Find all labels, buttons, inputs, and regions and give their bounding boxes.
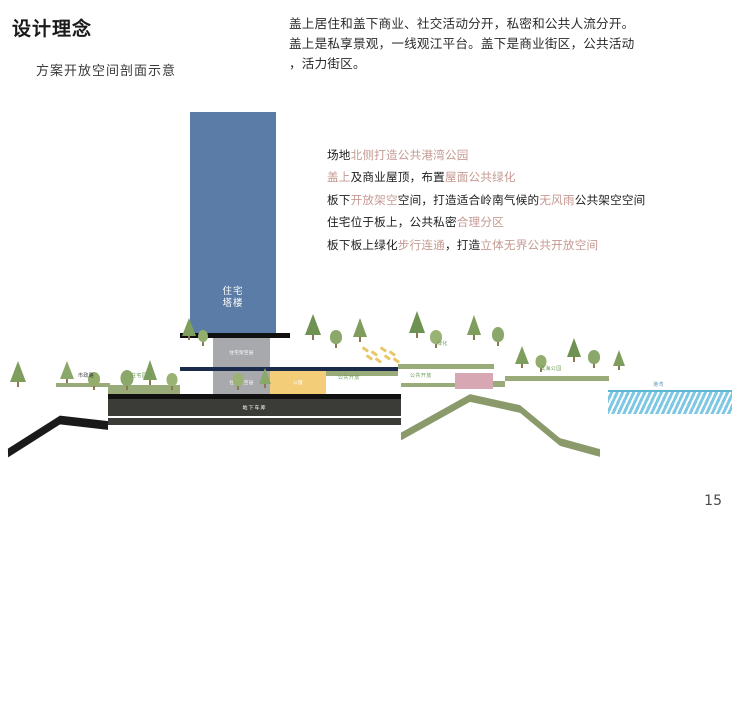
label-harbor: 港湾 xyxy=(653,381,664,388)
sun-ray-icon xyxy=(371,350,378,356)
intro-line-2: 盖上是私享景观，一线观江平台。盖下是商业街区，公共活动 xyxy=(289,34,731,54)
tree-icon xyxy=(258,368,271,388)
tree-icon xyxy=(232,373,243,390)
tree-icon xyxy=(515,346,529,368)
tree-icon xyxy=(352,318,367,342)
sun-ray-icon xyxy=(362,346,369,352)
tree-icon xyxy=(305,314,321,340)
basement-garage-band: 地下车库 xyxy=(108,399,401,416)
basement-garage-label: 地下车库 xyxy=(108,404,401,411)
tree-icon xyxy=(60,361,74,383)
intro-line-3: ，活力街区。 xyxy=(289,54,731,74)
tree-icon xyxy=(612,350,625,370)
plaza-panel-left xyxy=(326,376,398,394)
label-greenery: 绿化 xyxy=(437,340,448,347)
tree-icon xyxy=(166,373,177,390)
tree-icon xyxy=(182,318,196,340)
basement-garage-band-lower xyxy=(108,418,401,425)
tree-icon xyxy=(198,330,208,346)
sun-ray-icon xyxy=(366,354,373,360)
tree-icon xyxy=(10,361,26,387)
podium-block-upper: 住宅架空层 xyxy=(213,338,270,367)
pavilion-block xyxy=(455,373,493,389)
sun-ray-icon xyxy=(389,350,396,356)
label-municipal-road: 市政路 xyxy=(78,372,94,379)
page-subtitle: 方案开放空间剖面示意 xyxy=(36,60,176,79)
label-public-open-left: 公共开放 xyxy=(338,374,360,381)
tree-icon xyxy=(566,338,581,362)
tree-icon xyxy=(330,330,342,348)
sun-ray-icon xyxy=(384,354,391,360)
sun-ray-icon xyxy=(393,357,400,363)
sun-ray-icon xyxy=(375,357,382,363)
residential-tower-label: 住宅 塔楼 xyxy=(190,286,276,310)
tree-icon xyxy=(408,311,425,338)
page-number: 15 xyxy=(704,493,722,509)
harbor-water xyxy=(608,390,732,414)
podium-upper-label: 住宅架空层 xyxy=(213,350,270,356)
tower-label-line-1: 住宅 xyxy=(190,286,276,298)
label-public-open-right: 公共开放 xyxy=(410,372,432,379)
intro-line-1: 盖上居住和盖下商业、社交活动分开，私密和公共人流分开。 xyxy=(289,14,731,34)
page-title: 设计理念 xyxy=(12,14,92,41)
ground-strip-far-right xyxy=(505,376,609,381)
tree-icon xyxy=(588,350,600,368)
terrain-line xyxy=(0,376,740,706)
residential-tower-block: 住宅 塔楼 xyxy=(190,112,276,334)
commercial-block: 公服 xyxy=(270,371,326,394)
label-residential-garden: 住宅园林 xyxy=(131,372,153,379)
sun-ray-icon xyxy=(380,346,387,352)
section-diagram: 住宅 塔楼 住宅架空层 住宅架空层 公服 地下车库 市政路 住宅园林 公共开放 … xyxy=(0,100,740,430)
commercial-block-label: 公服 xyxy=(270,380,326,386)
intro-paragraph: 盖上居住和盖下商业、社交活动分开，私密和公共人流分开。 盖上是私享景观，一线观江… xyxy=(289,14,731,74)
tower-label-line-2: 塔楼 xyxy=(190,298,276,310)
tree-icon xyxy=(492,327,504,346)
tree-icon xyxy=(466,315,481,340)
label-harbor-park: 滨海公园 xyxy=(540,365,562,372)
ground-strip-far-left xyxy=(56,383,110,387)
